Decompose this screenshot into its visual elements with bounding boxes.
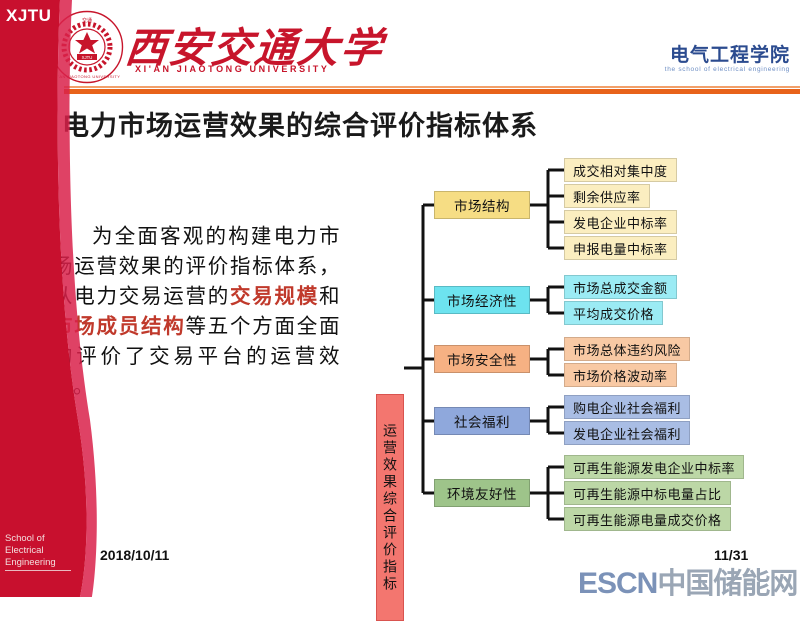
leaf-node-label: 发电企业社会福利 bbox=[573, 424, 681, 443]
leaf-node: 成交相对集中度 bbox=[564, 158, 677, 182]
leaf-node-label: 发电企业中标率 bbox=[573, 213, 668, 232]
leaf-node: 平均成交价格 bbox=[564, 301, 663, 325]
category-node-label: 社会福利 bbox=[454, 411, 510, 431]
leaf-node: 市场总成交金额 bbox=[564, 275, 677, 299]
category-node-label: 环境友好性 bbox=[447, 483, 517, 503]
watermark-escn: ESCN bbox=[578, 567, 657, 600]
leaf-node: 市场总体违约风险 bbox=[564, 337, 690, 361]
category-node-label: 市场结构 bbox=[454, 195, 510, 215]
page-title: 电力市场运营效果的综合评价指标体系 bbox=[62, 104, 538, 143]
leaf-node: 可再生能源中标电量占比 bbox=[564, 481, 731, 505]
leaf-node: 市场价格波动率 bbox=[564, 363, 677, 387]
footer-date: 2018/10/11 bbox=[100, 547, 169, 563]
category-node-5: 环境友好性 bbox=[434, 479, 530, 507]
watermark-cn: 中国储能网 bbox=[657, 568, 797, 600]
root-node-label: 运营效果综合评价指标 bbox=[379, 423, 401, 593]
leaf-node-label: 市场总成交金额 bbox=[573, 278, 668, 297]
leaf-node-label: 市场总体违约风险 bbox=[573, 340, 681, 359]
leaf-node: 剩余供应率 bbox=[564, 184, 650, 208]
leaf-node: 可再生能源发电企业中标率 bbox=[564, 455, 744, 479]
leaf-node-label: 平均成交价格 bbox=[573, 304, 654, 323]
category-node-label: 市场经济性 bbox=[447, 290, 517, 310]
leaf-node: 可再生能源电量成交价格 bbox=[564, 507, 731, 531]
leaf-node-label: 购电企业社会福利 bbox=[573, 398, 681, 417]
category-node-1: 市场结构 bbox=[434, 191, 530, 219]
leaf-node: 发电企业中标率 bbox=[564, 210, 677, 234]
leaf-node-label: 可再生能源电量成交价格 bbox=[573, 510, 722, 529]
root-node: 运营效果综合评价指标 bbox=[376, 394, 404, 621]
university-name-en: XI'AN JIAOTONG UNIVERSITY bbox=[135, 64, 330, 74]
slide-canvas: XJTU School of Electrical Engineering XJ… bbox=[0, 0, 800, 597]
leaf-node-label: 申报电量中标率 bbox=[573, 239, 668, 258]
indicator-tree-diagram: 运营效果综合评价指标 市场结构成交相对集中度剩余供应率发电企业中标率申报电量中标… bbox=[0, 140, 800, 540]
leaf-node-label: 可再生能源发电企业中标率 bbox=[573, 458, 735, 477]
category-node-label: 市场安全性 bbox=[447, 349, 517, 369]
leaf-node: 购电企业社会福利 bbox=[564, 395, 690, 419]
xjtu-corner-tag: XJTU bbox=[6, 6, 51, 26]
category-node-3: 市场安全性 bbox=[434, 345, 530, 373]
header-rule bbox=[64, 89, 800, 94]
leaf-node-label: 成交相对集中度 bbox=[573, 161, 668, 180]
category-node-2: 市场经济性 bbox=[434, 286, 530, 314]
footer-school-rule bbox=[5, 570, 71, 571]
leaf-node-label: 市场价格波动率 bbox=[573, 366, 668, 385]
left-red-band bbox=[0, 0, 100, 597]
department-name-cn: 电气工程学院 bbox=[670, 40, 790, 67]
leaf-node-label: 剩余供应率 bbox=[573, 187, 641, 206]
header-rule-thin bbox=[64, 86, 800, 88]
category-node-4: 社会福利 bbox=[434, 407, 530, 435]
leaf-node: 发电企业社会福利 bbox=[564, 421, 690, 445]
watermark: ESCN中国储能网 bbox=[578, 560, 797, 602]
footer-school-label: School of Electrical Engineering bbox=[5, 533, 77, 569]
left-band-shape bbox=[0, 0, 100, 597]
department-name-en: the school of electrical engineering bbox=[665, 66, 790, 73]
leaf-node: 申报电量中标率 bbox=[564, 236, 677, 260]
leaf-node-label: 可再生能源中标电量占比 bbox=[573, 484, 722, 503]
